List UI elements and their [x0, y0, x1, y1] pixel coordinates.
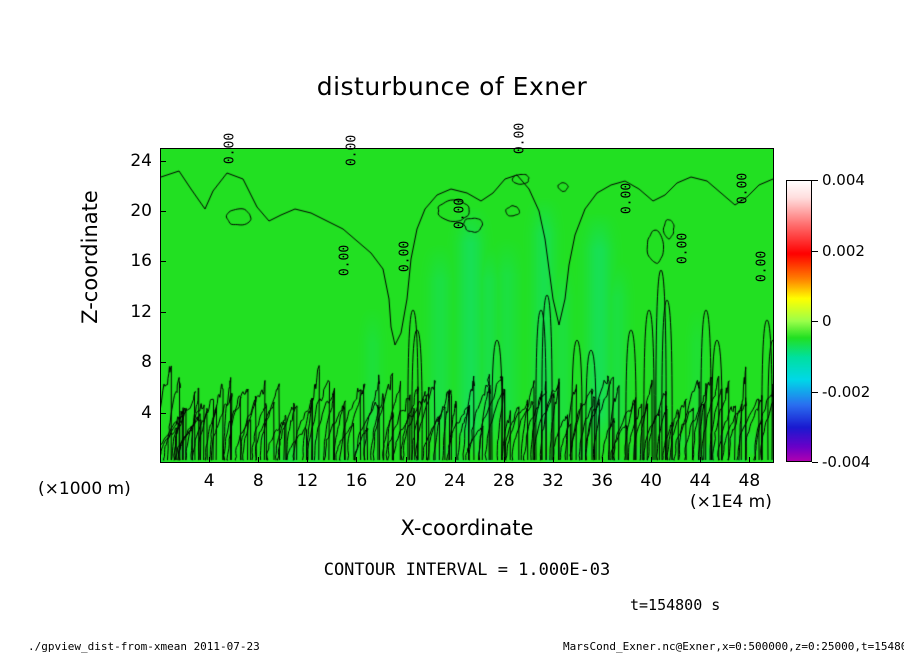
- y-tick-mark: [160, 261, 166, 262]
- colorbar: [786, 180, 812, 462]
- time-note: t=154800 s: [630, 596, 720, 614]
- colorbar-tick-mark: [812, 392, 818, 393]
- page-title: disturbunce of Exner: [0, 72, 904, 101]
- contour-field: [161, 149, 773, 462]
- x-tick-label: 20: [392, 471, 420, 491]
- y-tick-mark: [160, 161, 166, 162]
- y-tick-label: 16: [112, 251, 152, 271]
- y-units-label: (×1000 m): [38, 479, 131, 499]
- footer-right-text: MarsCond_Exner.nc@Exner,x=0:500000,z=0:2…: [563, 640, 904, 653]
- x-tick-label: 24: [441, 471, 469, 491]
- x-tick-mark: [406, 457, 407, 463]
- x-tick-mark: [258, 457, 259, 463]
- x-tick-mark: [553, 457, 554, 463]
- y-tick-label: 8: [112, 352, 152, 372]
- x-tick-mark: [504, 457, 505, 463]
- x-tick-label: 28: [490, 471, 518, 491]
- x-tick-label: 48: [735, 471, 763, 491]
- y-tick-mark: [160, 211, 166, 212]
- colorbar-tick-label: 0.002: [822, 242, 865, 260]
- x-tick-mark: [307, 457, 308, 463]
- x-tick-mark: [209, 457, 210, 463]
- x-tick-mark: [749, 457, 750, 463]
- x-tick-mark: [356, 457, 357, 463]
- y-tick-label: 20: [112, 201, 152, 221]
- y-tick-mark: [160, 312, 166, 313]
- plot-area: [160, 148, 774, 463]
- x-tick-mark: [651, 457, 652, 463]
- x-tick-label: 4: [195, 471, 223, 491]
- colorbar-tick-label: -0.002: [822, 383, 870, 401]
- colorbar-tick-label: 0.004: [822, 171, 865, 189]
- y-tick-mark: [160, 362, 166, 363]
- y-tick-label: 24: [112, 151, 152, 171]
- colorbar-tick-label: 0: [822, 312, 832, 330]
- x-tick-label: 44: [686, 471, 714, 491]
- y-axis-label: Z-coordinate: [78, 157, 102, 357]
- y-tick-label: 4: [112, 403, 152, 423]
- x-tick-label: 32: [539, 471, 567, 491]
- colorbar-tick-label: -0.004: [822, 453, 870, 471]
- x-tick-label: 12: [293, 471, 321, 491]
- x-tick-mark: [455, 457, 456, 463]
- y-tick-label: 12: [112, 302, 152, 322]
- contour-interval-note: CONTOUR INTERVAL = 1.000E-03: [160, 560, 774, 580]
- x-tick-label: 40: [637, 471, 665, 491]
- colorbar-tick-mark: [812, 180, 818, 181]
- x-tick-label: 8: [244, 471, 272, 491]
- colorbar-tick-mark: [812, 462, 818, 463]
- colorbar-tick-mark: [812, 251, 818, 252]
- x-tick-label: 36: [588, 471, 616, 491]
- y-tick-mark: [160, 413, 166, 414]
- x-tick-mark: [602, 457, 603, 463]
- x-axis-label: X-coordinate: [160, 516, 774, 540]
- x-tick-label: 16: [342, 471, 370, 491]
- x-units-label: (×1E4 m): [690, 492, 772, 512]
- x-tick-mark: [700, 457, 701, 463]
- footer-left-text: ./gpview_dist-from-xmean 2011-07-23: [28, 640, 260, 653]
- colorbar-tick-mark: [812, 321, 818, 322]
